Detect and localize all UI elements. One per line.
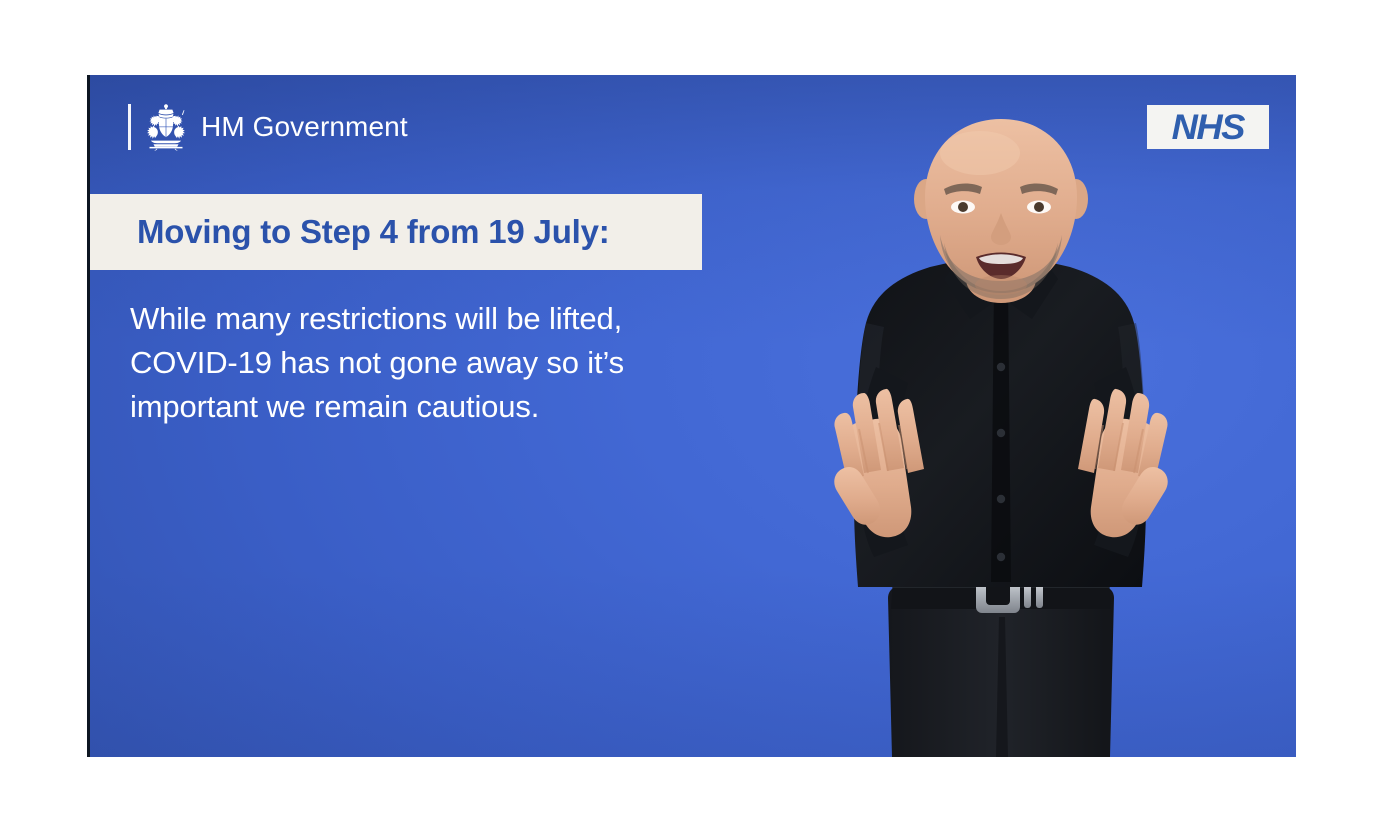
sign-language-interpreter <box>780 117 1220 757</box>
interpreter-figure <box>780 117 1220 757</box>
headline-title: Moving to Step 4 from 19 July: <box>90 213 610 251</box>
hm-government-lockup: HM Government <box>128 102 408 152</box>
body-copy: While many restrictions will be lifted, … <box>130 297 770 429</box>
headline-banner: Moving to Step 4 from 19 July: <box>90 194 702 270</box>
body-line-1: While many restrictions will be lifted, <box>130 297 770 341</box>
lockup-divider-rule <box>128 104 131 150</box>
nhs-logo: NHS <box>1147 105 1269 149</box>
page-root: HM Government NHS Moving to Step 4 from … <box>0 0 1380 834</box>
nhs-wordmark-text: NHS <box>1172 110 1244 145</box>
body-line-3: important we remain cautious. <box>130 385 770 429</box>
royal-coat-of-arms-icon <box>143 102 189 152</box>
hm-government-label: HM Government <box>201 111 408 143</box>
video-frame: HM Government NHS Moving to Step 4 from … <box>87 75 1296 757</box>
body-line-2: COVID-19 has not gone away so it’s <box>130 341 770 385</box>
